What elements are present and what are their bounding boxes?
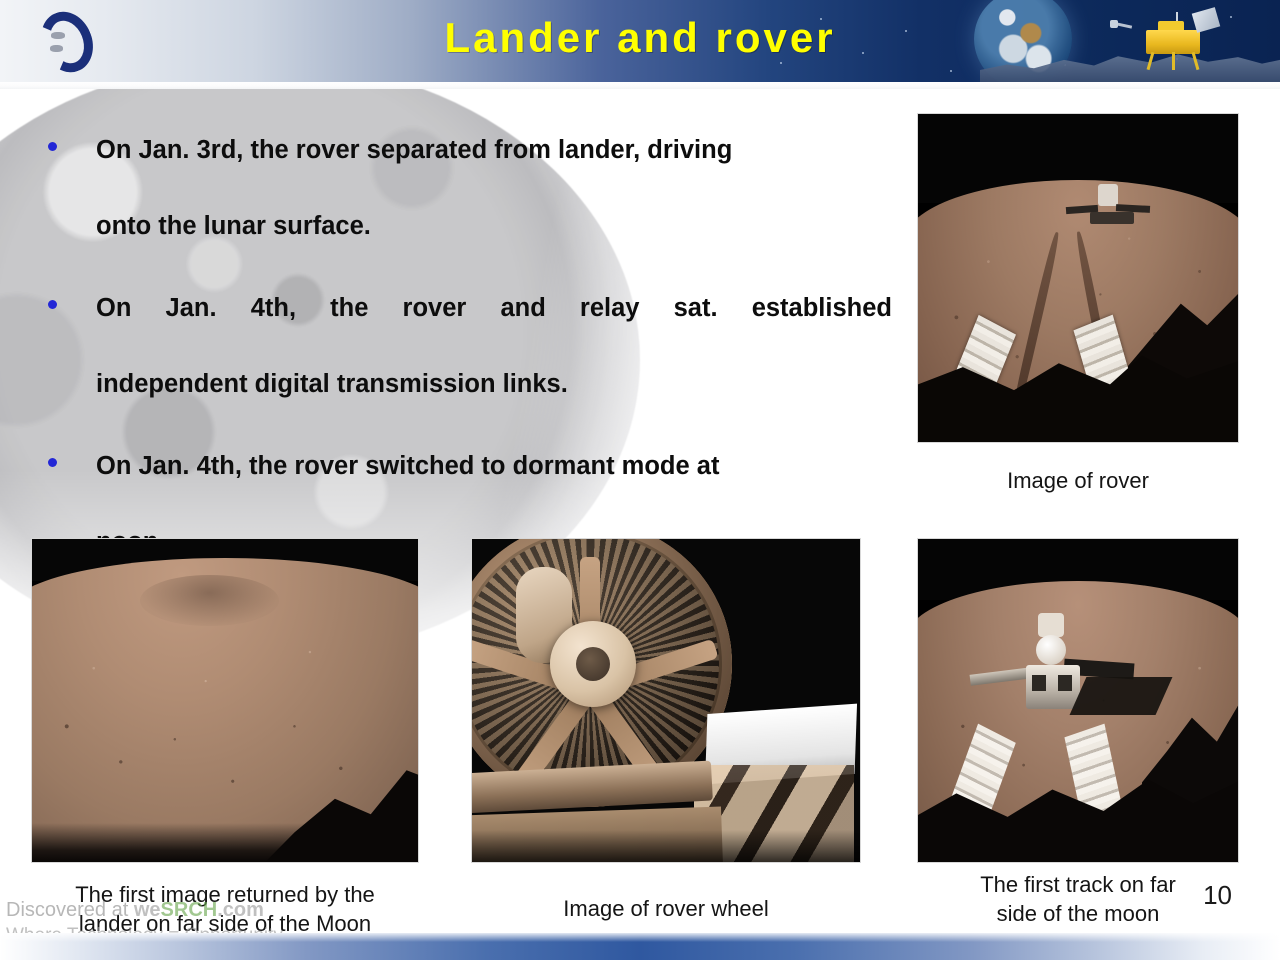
slide: Lander and rover On Jan. 3rd, the rover … [0, 0, 1280, 960]
rover-vehicle [1088, 184, 1144, 232]
rover-deck [1090, 212, 1134, 224]
photo-image-of-rover-wheel [472, 539, 860, 862]
foreground-shadow [32, 823, 418, 862]
bullet-dot-icon [48, 142, 57, 151]
bullet-item-1: On Jan. 3rd, the rover separated from la… [36, 112, 892, 264]
bullet-dot-icon [48, 458, 57, 467]
rover-antenna-dish [1036, 635, 1066, 665]
photo-image-of-rover [918, 114, 1238, 442]
watermark-brand-com: .com [217, 899, 264, 921]
header-separator [0, 82, 1280, 89]
caption-first-track-line-1: The first track on far [918, 870, 1238, 899]
page-number: 10 [1203, 880, 1232, 911]
photo-first-track [918, 539, 1238, 862]
wheel-hub-center [576, 647, 610, 681]
bullet-2-line-2: independent digital transmission links. [96, 370, 568, 398]
footer-bar [0, 933, 1280, 960]
caption-rover-wheel: Image of rover wheel [472, 894, 860, 923]
slide-header: Lander and rover [0, 0, 1280, 82]
rover-mast [1038, 613, 1064, 637]
watermark-brand-srch: SRCH [161, 899, 218, 921]
caption-image-of-rover: Image of rover [918, 466, 1238, 495]
bullet-dot-icon [48, 300, 57, 309]
footer-sheen [0, 933, 1280, 942]
rover-vehicle [1018, 613, 1138, 743]
caption-first-track-line-2: side of the moon [918, 899, 1238, 928]
bullet-1-line-2: onto the lunar surface. [96, 212, 371, 240]
slide-title: Lander and rover [0, 14, 1280, 62]
bullet-list: On Jan. 3rd, the rover separated from la… [36, 112, 892, 586]
watermark-line-1: Discovered at weSRCH.com [6, 898, 283, 923]
rover-instrument-window-left [1032, 675, 1046, 691]
watermark-prefix: Discovered at [6, 899, 134, 921]
rover-mast [1098, 184, 1118, 206]
watermark-brand-we: we [134, 899, 161, 921]
bullet-1-line-1: On Jan. 3rd, the rover separated from la… [96, 136, 732, 164]
bullet-2-line-1: On Jan. 4th, the rover and relay sat. es… [96, 270, 892, 346]
caption-first-track: The first track on far side of the moon [918, 870, 1238, 928]
photo-first-image-from-lander [32, 539, 418, 862]
bullet-item-2: On Jan. 4th, the rover and relay sat. es… [36, 270, 892, 422]
bullet-3-line-1: On Jan. 4th, the rover switched to dorma… [96, 452, 719, 480]
bottom-shadow [472, 830, 860, 862]
rover-instrument-window-right [1058, 675, 1072, 691]
rover-shadow [1070, 677, 1173, 715]
